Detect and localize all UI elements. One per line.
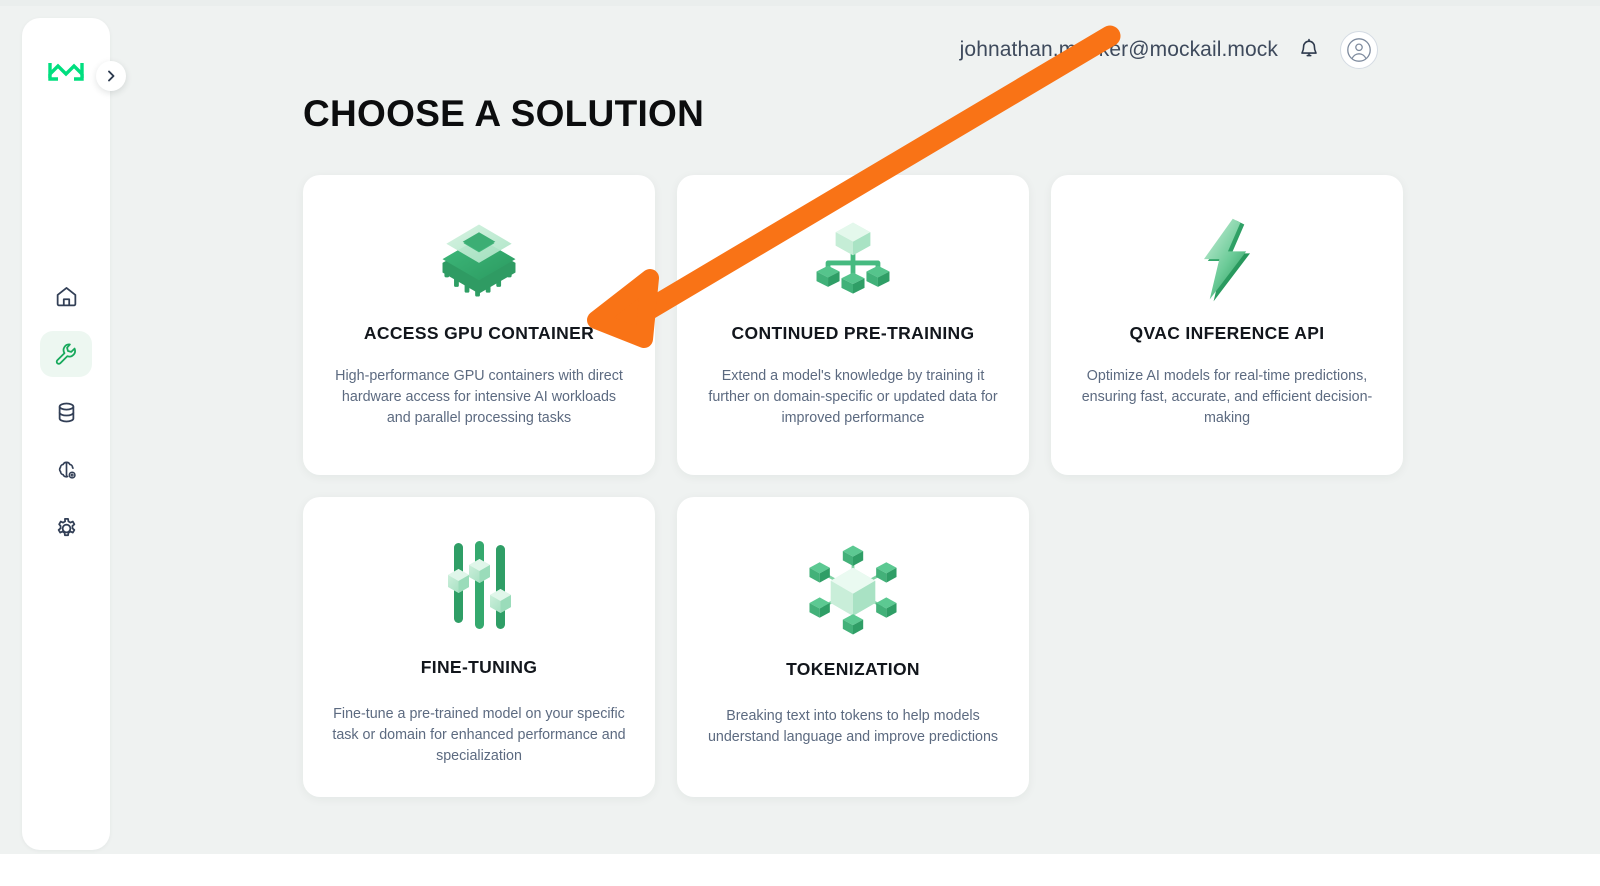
token-cube-network-icon [803,531,903,649]
card-description: Extend a model's knowledge by training i… [703,366,1003,429]
app-window: johnathan.mocker@mockail.mock CHOOSE A S… [0,0,1600,886]
card-title: CONTINUED PRE-TRAINING [732,323,975,344]
sidebar-nav [22,273,110,551]
sidebar [22,18,110,850]
user-email-label: johnathan.mocker@mockail.mock [960,38,1278,62]
sidebar-item-settings[interactable] [40,505,92,551]
card-title: FINE-TUNING [421,657,538,678]
infinity-logo-icon[interactable] [43,56,89,86]
card-description: Fine-tune a pre-trained model on your sp… [329,704,629,767]
solutions-grid: ACCESS GPU CONTAINER High-performance GP… [303,175,1413,797]
wrench-icon [53,341,79,367]
notifications-button[interactable] [1294,35,1324,65]
card-title: ACCESS GPU CONTAINER [364,323,594,344]
sidebar-item-storage[interactable] [40,389,92,435]
user-avatar-button[interactable] [1340,31,1378,69]
sidebar-collapse-button[interactable] [96,61,126,91]
card-description: High-performance GPU containers with dir… [329,366,629,429]
gear-icon [54,516,79,541]
sidebar-item-models[interactable] [40,447,92,493]
bell-icon [1297,38,1321,62]
solution-card-qvac-inference-api[interactable]: QVAC INFERENCE API Optimize AI models fo… [1051,175,1403,475]
card-description: Breaking text into tokens to help models… [703,706,1003,748]
solution-card-fine-tuning[interactable]: FINE-TUNING Fine-tune a pre-trained mode… [303,497,655,797]
brain-settings-icon [54,458,79,483]
solution-card-continued-pre-training[interactable]: CONTINUED PRE-TRAINING Extend a model's … [677,175,1029,475]
card-title: TOKENIZATION [786,659,920,680]
home-icon [54,284,79,309]
hierarchy-nodes-icon [805,209,901,313]
chevron-right-icon [104,69,118,83]
lightning-bolt-icon [1179,209,1275,313]
user-avatar-icon [1346,37,1372,63]
bottom-strip [0,854,1600,886]
card-description: Optimize AI models for real-time predict… [1077,366,1377,429]
top-header: johnathan.mocker@mockail.mock [960,0,1600,100]
database-icon [54,400,79,425]
solution-card-access-gpu-container[interactable]: ACCESS GPU CONTAINER High-performance GP… [303,175,655,475]
main-content: CHOOSE A SOLUTION [303,0,1413,797]
card-title: QVAC INFERENCE API [1130,323,1325,344]
gpu-chip-icon [431,209,527,313]
sidebar-item-solutions[interactable] [40,331,92,377]
sliders-icon [429,531,529,647]
sidebar-item-home[interactable] [40,273,92,319]
solution-card-tokenization[interactable]: TOKENIZATION Breaking text into tokens t… [677,497,1029,797]
